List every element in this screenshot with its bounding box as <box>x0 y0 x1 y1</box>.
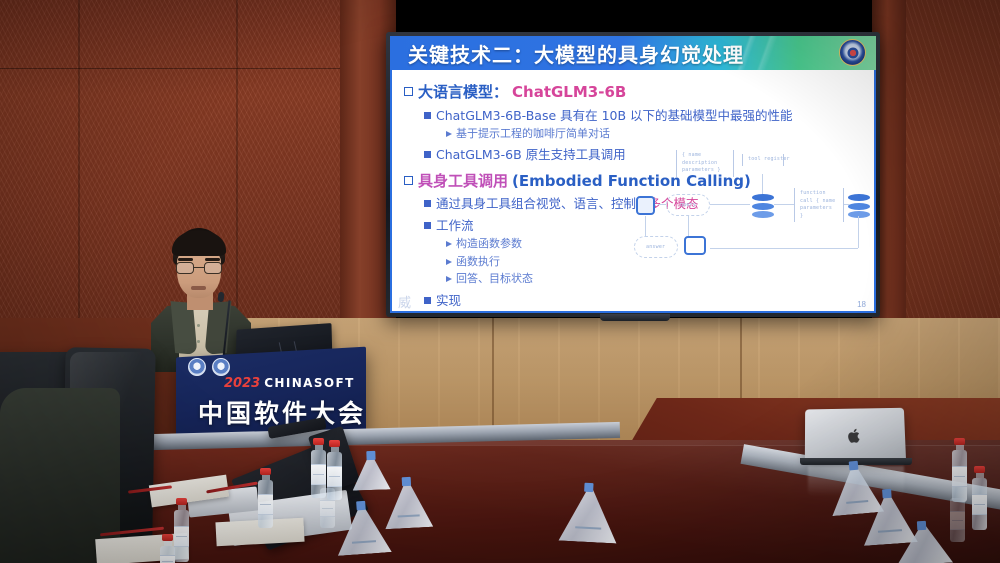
slide-bullet: ChatGLM3-6B-Base 具有在 10B 以下的基础模型中最强的性能 <box>424 105 864 124</box>
slide-subbullet: 基于提示工程的咖啡厅简单对话 <box>446 125 864 141</box>
podium-logos <box>188 358 230 376</box>
bottle-label <box>952 466 967 488</box>
answer-label: answer <box>646 244 665 252</box>
name-card-tab <box>584 483 593 492</box>
name-card-tab <box>402 477 411 486</box>
connector <box>688 216 689 236</box>
name-card-holder <box>559 483 620 544</box>
connector <box>762 174 763 196</box>
screen-stand <box>600 314 670 321</box>
bullet-text: 通过具身工具组合视觉、语言、控制等 <box>436 193 649 212</box>
university-seal-icon <box>839 39 866 66</box>
slide-bullet: 实现 <box>424 290 864 309</box>
wall-seam <box>78 0 80 340</box>
subbullet-text: 基于提示工程的咖啡厅简单对话 <box>456 125 610 141</box>
square-filled-bullet-icon <box>424 222 431 229</box>
bottle-label <box>174 526 189 548</box>
arrow-bullet-icon <box>446 241 452 247</box>
square-filled-bullet-icon <box>424 112 431 119</box>
slide-title: 关键技术二：大模型的具身幻觉处理 <box>408 39 744 68</box>
bottle-label <box>311 464 326 484</box>
bottle-cap <box>954 438 965 445</box>
speaker-hair-top <box>172 230 226 256</box>
bottle-label <box>320 500 335 517</box>
bottle-body <box>972 478 987 530</box>
water-bottle <box>258 468 273 528</box>
arrow-bullet-icon <box>446 259 452 265</box>
bottle-label <box>258 494 273 514</box>
slide-subbullet: 基于场景的具身多轮对话 <box>446 311 864 314</box>
slide-header-band: 关键技术二：大模型的具身幻觉处理 <box>390 36 876 70</box>
name-card-tab <box>882 489 892 499</box>
coat-on-chair <box>0 388 120 563</box>
tool-description-label: { name description parameters } <box>682 152 728 175</box>
slide-watermark: 威 <box>398 292 411 311</box>
bottle-body <box>160 546 175 563</box>
connector <box>858 216 859 248</box>
name-card-tab <box>917 521 926 530</box>
tool-register-label: tool register <box>748 156 778 164</box>
robot-icon <box>684 236 706 255</box>
connector <box>658 204 666 205</box>
user-icon <box>636 196 655 215</box>
water-bottle <box>174 498 189 562</box>
speaker-eyebrow-right <box>205 258 220 261</box>
podium-brand-text: CHINASOFT <box>264 376 354 390</box>
connector <box>645 216 646 236</box>
slide-heading-1: 大语言模型： ChatGLM3-6B <box>404 81 864 102</box>
bullet-text: 实现 <box>436 290 461 309</box>
bottle-label <box>327 466 342 486</box>
glasses-lens-right <box>204 262 222 274</box>
glasses-bridge <box>194 267 204 268</box>
bottle-label <box>950 511 965 529</box>
square-filled-bullet-icon <box>424 297 431 304</box>
query-cloud: query <box>666 194 710 216</box>
bottle-body <box>950 498 965 542</box>
speaker-glasses <box>175 262 223 274</box>
speaker-eyebrow-left <box>178 258 193 261</box>
bottle-label <box>972 494 987 516</box>
slide-subbullet: 回答、目标状态 <box>446 270 864 286</box>
bottle-cap <box>176 498 187 505</box>
arrow-bullet-icon <box>446 131 452 137</box>
bottle-cap <box>313 438 324 445</box>
water-bottle-reflection <box>950 498 965 542</box>
slide-page-number: 18 <box>857 300 866 309</box>
jacket-button <box>197 324 200 327</box>
name-card-tab <box>848 461 858 471</box>
subbullet-text: 函数执行 <box>456 253 500 269</box>
conference-room-scene: 关键技术二：大模型的具身幻觉处理 大语言模型： ChatGLM3-6B Chat… <box>0 0 1000 563</box>
name-card-tab <box>356 501 366 511</box>
square-filled-bullet-icon <box>424 200 431 207</box>
subbullet-text: 回答、目标状态 <box>456 270 533 286</box>
glasses-lens-left <box>176 262 194 274</box>
slide-body: 大语言模型： ChatGLM3-6B ChatGLM3-6B-Base 具有在 … <box>390 70 876 313</box>
function-calling-diagram: { name description parameters } tool reg… <box>622 148 870 268</box>
organization-logo-icon <box>188 358 206 376</box>
podium-year: 2023 <box>224 376 260 391</box>
water-bottle-reflection <box>320 488 335 528</box>
name-card-tab <box>366 451 375 460</box>
name-card-holder <box>334 500 391 556</box>
bottle-cap <box>162 534 173 541</box>
tool-register-box: tool register <box>742 154 784 166</box>
bottle-cap <box>260 468 271 475</box>
bullet-text: 工作流 <box>436 215 474 234</box>
square-outline-bullet-icon <box>404 87 413 96</box>
macbook-laptop <box>805 408 906 464</box>
tool-description-box: { name description parameters } <box>676 150 734 177</box>
heading-2-text: 具身工具调用 <box>418 170 508 191</box>
bottle-body <box>258 480 273 528</box>
bottle-body <box>174 510 189 562</box>
subbullet-text: 构造函数参数 <box>456 235 522 251</box>
connector <box>710 204 750 205</box>
slide-canvas: 关键技术二：大模型的具身幻觉处理 大语言模型： ChatGLM3-6B Chat… <box>390 36 876 313</box>
heading-1-text: 大语言模型： <box>418 81 508 102</box>
function-call-box: function call { name parameters } <box>794 188 844 222</box>
function-call-label: function call { name parameters } <box>800 190 838 220</box>
jacket-button <box>197 340 200 343</box>
speaker-mouth <box>191 286 206 290</box>
query-label: query <box>680 202 696 210</box>
bottle-body <box>952 450 967 502</box>
bullet-text: ChatGLM3-6B 原生支持工具调用 <box>436 144 626 163</box>
organization-logo-icon-2 <box>212 358 230 376</box>
connector <box>774 204 794 205</box>
bottle-cap <box>329 440 340 447</box>
connector <box>844 204 850 205</box>
database-2-icon <box>848 194 870 216</box>
bottle-cap <box>974 466 985 473</box>
square-outline-bullet-icon <box>404 176 413 185</box>
podium-brand-en: 2023 CHINASOFT <box>224 376 355 391</box>
water-bottle <box>952 438 967 502</box>
name-card-holder <box>895 521 953 563</box>
bottle-label <box>160 555 175 563</box>
arrow-bullet-icon <box>446 276 452 282</box>
bullet-text: ChatGLM3-6B-Base 具有在 10B 以下的基础模型中最强的性能 <box>436 105 793 124</box>
presentation-screen: 关键技术二：大模型的具身幻觉处理 大语言模型： ChatGLM3-6B Chat… <box>386 32 880 317</box>
water-bottle <box>160 534 175 563</box>
answer-cloud: answer <box>634 236 678 258</box>
connector <box>710 248 858 249</box>
heading-1-accent: ChatGLM3-6B <box>512 83 626 101</box>
water-bottle <box>972 466 987 530</box>
square-filled-bullet-icon <box>424 151 431 158</box>
bottle-body <box>320 488 335 528</box>
name-card-holder <box>351 451 390 490</box>
apple-logo-icon <box>847 427 862 444</box>
database-1-icon <box>752 194 774 216</box>
subbullet-text: 基于场景的具身多轮对话 <box>456 311 577 314</box>
